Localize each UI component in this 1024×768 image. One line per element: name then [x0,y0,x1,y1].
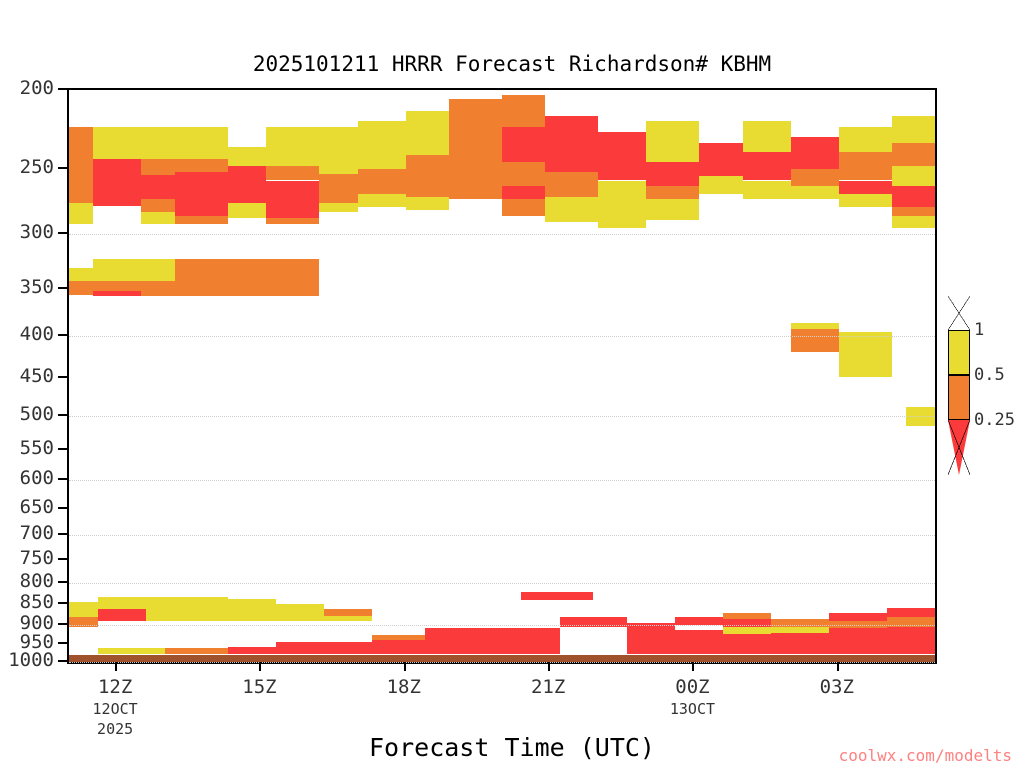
y-axis-label: 500 [0,403,54,425]
heatmap-cell [141,212,175,224]
heatmap-cell [276,604,324,620]
heatmap-cell [839,127,892,152]
heatmap-cell [175,216,228,225]
gridline [69,480,935,482]
heatmap-cell [892,116,935,143]
colorbar-tick-label: 0.5 [974,365,1005,385]
heatmap-cell [358,121,406,170]
heatmap-cell [266,127,319,166]
colorbar-segment-yellow[interactable] [948,330,970,375]
x-axis-tick [115,662,117,671]
heatmap-cell [146,597,228,621]
heatmap-cell [319,127,357,173]
heatmap-cell [69,281,93,295]
y-axis-tick [58,334,67,336]
heatmap-cell [319,203,357,212]
heatmap-cell [723,627,771,635]
heatmap-cell [266,166,319,180]
y-axis-tick [58,478,67,480]
y-axis-label: 800 [0,570,54,592]
heatmap-cell [627,623,675,655]
y-axis-label: 550 [0,437,54,459]
heatmap-cell [266,218,319,224]
y-axis-label: 850 [0,591,54,613]
heatmap-cell [839,181,892,195]
y-axis-label: 750 [0,547,54,569]
x-axis-label: 00Z [632,676,752,698]
heatmap-cell [646,199,699,219]
heatmap-cell [449,99,502,143]
heatmap-cell [646,162,699,186]
heatmap-cell [502,186,545,199]
heatmap-cell [406,155,449,197]
heatmap-cell [228,599,276,620]
y-axis-label: 600 [0,467,54,489]
heatmap-cell [69,268,93,281]
heatmap-cell [839,194,892,207]
colorbar[interactable]: 10.50.25 [941,296,1024,496]
heatmap-cell [69,203,93,224]
heatmap-cell [892,143,935,167]
x-axis-tick [404,662,406,671]
heatmap-cell [839,332,892,377]
chart-root: 2025101211 HRRR Forecast Richardson# KBH… [0,0,1024,768]
heatmap-cell [93,291,141,296]
heatmap-cell [175,259,228,296]
heatmap-cell [98,609,146,620]
heatmap-cell [743,152,791,181]
heatmap-cell [93,127,141,159]
heatmap-cell [646,186,699,199]
heatmap-cell [743,181,791,200]
y-axis-tick [58,507,67,509]
terrain-fill [69,655,935,662]
heatmap-cell [358,194,406,207]
heatmap-cell [93,159,141,206]
heatmap-cell [829,628,887,654]
x-axis-label: 21Z [488,676,608,698]
heatmap-cell [406,111,449,155]
gridline [69,583,935,585]
heatmap-cell [69,602,98,616]
heatmap-cell [646,121,699,162]
y-axis-tick [58,376,67,378]
heatmap-cell [502,95,545,127]
heatmap-cell [598,132,646,181]
gridline [69,625,935,627]
heatmap-cell [502,199,545,216]
heatmap-cell [175,172,228,216]
y-axis-tick [58,88,67,90]
heatmap-cell [141,259,175,280]
heatmap-cell [771,627,829,634]
y-axis-label: 250 [0,156,54,178]
heatmap-cell [699,176,742,194]
heatmap-cell [69,627,98,653]
heatmap-cell [69,127,93,203]
x-axis-tick [837,662,839,671]
y-axis-label: 350 [0,276,54,298]
heatmap-cell [791,186,839,199]
y-axis-tick [58,287,67,289]
y-axis-tick [58,623,67,625]
y-axis-tick [58,448,67,450]
heatmap-cell [791,137,839,170]
y-axis-tick [58,558,67,560]
x-axis-sublabel: 12OCT [55,700,175,718]
watermark: coolwx.com/modelts [839,746,1012,765]
heatmap-cell [358,169,406,194]
heatmap-cell [319,174,357,204]
heatmap-cell [791,329,839,352]
y-axis-label: 400 [0,323,54,345]
heatmap-cell [502,127,545,162]
y-axis-tick [58,533,67,535]
colorbar-tick-label: 1 [974,320,984,340]
heatmap-cell [723,634,771,654]
y-axis-tick [58,660,67,662]
heatmap-cell [228,166,266,203]
x-axis-label: 15Z [199,676,319,698]
gridline [69,336,935,338]
colorbar-under-arrow-outline [948,420,970,475]
heatmap-cell [93,281,141,291]
heatmap-cell [675,630,723,654]
y-axis-tick [58,602,67,604]
heatmap-cell [743,121,791,152]
x-axis-tick [259,662,261,671]
heatmap-cell [276,642,372,654]
heatmap-cell [791,169,839,186]
plot-area [67,88,937,664]
heatmap-cell [521,592,593,600]
heatmap-cell [141,159,175,175]
heatmap-cell [324,616,372,621]
y-axis-tick [58,167,67,169]
heatmap-cell [141,127,175,159]
x-axis-tick [692,662,694,671]
x-axis-label: 12Z [55,676,175,698]
heatmap-cell [449,143,502,186]
heatmap-cell [892,186,935,207]
y-axis-label: 450 [0,365,54,387]
y-axis-label: 1000 [0,649,54,671]
heatmap-cell [892,207,935,216]
heatmap-cell [545,172,598,197]
heatmap-cells [69,90,935,662]
heatmap-cell [141,281,175,296]
heatmap-cell [545,197,598,222]
y-axis-tick [58,414,67,416]
y-axis-tick [58,642,67,644]
heatmap-cell [228,647,276,654]
heatmap-cell [699,143,742,177]
colorbar-over-arrow-outline [948,296,970,330]
y-axis-tick [58,232,67,234]
heatmap-cell [545,116,598,172]
gridline [69,535,935,537]
heatmap-cell [141,199,175,212]
x-axis-label: 18Z [344,676,464,698]
heatmap-cell [892,166,935,186]
heatmap-cell [93,259,141,280]
heatmap-cell [175,159,228,172]
colorbar-tick-label: 0.25 [974,410,1015,430]
heatmap-cell [771,633,829,654]
heatmap-cell [839,152,892,181]
y-axis-label: 700 [0,522,54,544]
y-axis-label: 650 [0,496,54,518]
x-axis-tick [548,662,550,671]
heatmap-cell [406,197,449,210]
heatmap-cell [141,175,175,199]
heatmap-cell [502,162,545,186]
y-axis-label: 200 [0,77,54,99]
heatmap-cell [98,648,165,654]
heatmap-cell [228,203,266,218]
heatmap-cell [98,597,146,610]
heatmap-cell [675,617,723,625]
chart-title: 2025101211 HRRR Forecast Richardson# KBH… [0,52,1024,76]
heatmap-cell [228,259,266,296]
colorbar-segment-orange[interactable] [948,375,970,420]
gridline [69,234,935,236]
x-axis-label: 03Z [777,676,897,698]
heatmap-cell [175,127,228,159]
heatmap-cell [266,259,319,296]
heatmap-cell [887,627,935,655]
heatmap-cell [829,613,887,620]
gridline [69,662,935,664]
heatmap-cell [887,608,935,616]
heatmap-cell [425,628,560,654]
heatmap-cell [266,181,319,219]
heatmap-cell [892,216,935,228]
heatmap-cell [372,640,425,654]
heatmap-cell [165,648,228,654]
heatmap-cell [449,186,502,199]
heatmap-cell [598,210,646,229]
x-axis-sublabel: 13OCT [632,700,752,718]
heatmap-cell [560,627,627,636]
y-axis-tick [58,581,67,583]
gridline [69,416,935,418]
y-axis-label: 300 [0,221,54,243]
heatmap-cell [598,181,646,210]
heatmap-cell [228,147,266,166]
